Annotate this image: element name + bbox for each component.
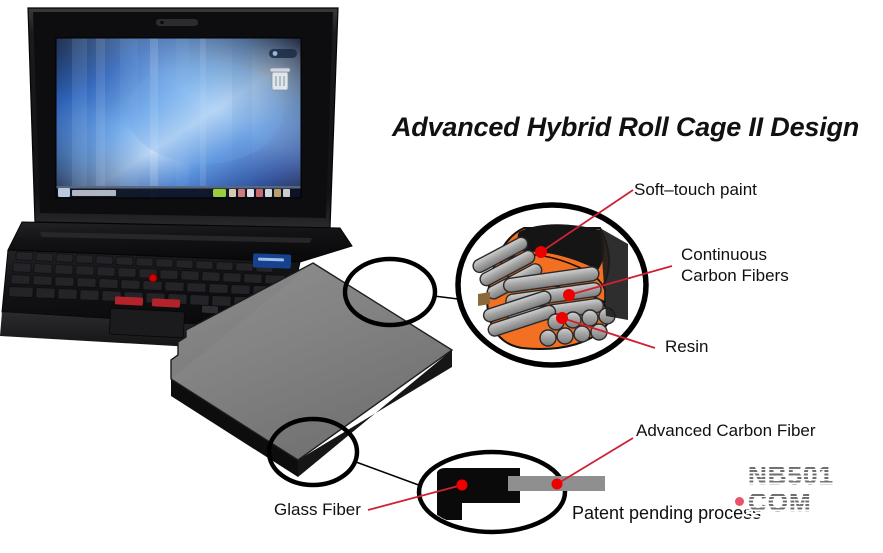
label-continuous-carbon-fibers: Continuous Carbon Fibers <box>681 245 789 286</box>
label-soft-touch-paint: Soft–touch paint <box>634 180 757 201</box>
watermark-logo: NB501 COM <box>748 462 880 524</box>
watermark-line2: COM <box>748 489 880 516</box>
watermark-line1: NB501 <box>748 462 880 489</box>
label-glass-fiber: Glass Fiber <box>274 500 361 521</box>
label-resin: Resin <box>665 337 708 358</box>
leader-dot-carbon-fibers <box>563 289 575 301</box>
slide-canvas: Advanced Hybrid Roll Cage II Design Soft… <box>0 0 883 553</box>
label-continuous-line2: Carbon Fibers <box>681 266 789 287</box>
label-patent-pending: Patent pending process <box>572 503 761 525</box>
label-advanced-carbon-fiber: Advanced Carbon Fiber <box>636 421 816 442</box>
label-continuous-line1: Continuous <box>681 245 789 266</box>
page-title: Advanced Hybrid Roll Cage II Design <box>392 112 859 143</box>
watermark-dot <box>735 497 744 506</box>
leader-dot-glass-fiber <box>457 480 468 491</box>
leader-dot-adv-carbon <box>552 479 563 490</box>
leader-dot-soft-touch <box>535 246 547 258</box>
leader-dot-resin <box>556 312 568 324</box>
